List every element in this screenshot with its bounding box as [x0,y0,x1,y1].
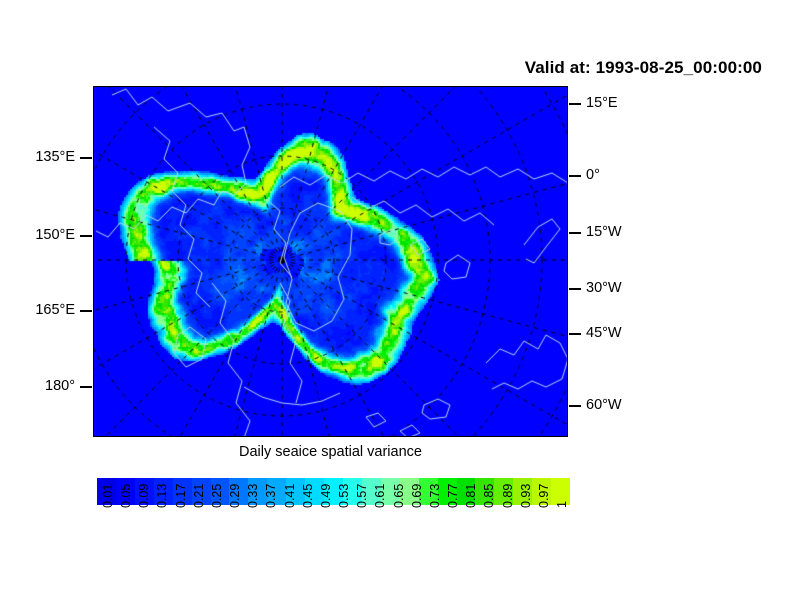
left-axis-label: 165°E [0,302,75,318]
left-axis-label: 180° [0,378,75,394]
left-axis-tick [80,386,92,388]
colorbar-tick-label: 0.25 [210,484,224,508]
colorbar-tick-label: 0.05 [119,484,133,508]
right-axis-tick [569,232,581,234]
colorbar-tick-label: 0.21 [192,484,206,508]
right-axis-tick [569,175,581,177]
colorbar-tick-label: 0.65 [392,484,406,508]
colorbar-tick-label: 0.01 [101,484,115,508]
colorbar-tick-label: 0.89 [501,484,515,508]
right-axis-label: 30°W [586,280,622,296]
colorbar-tick-label: 0.33 [246,484,260,508]
colorbar-tick-label: 0.49 [319,484,333,508]
colorbar-tick-label: 0.29 [228,484,242,508]
left-axis-tick [80,235,92,237]
left-axis-label: 135°E [0,149,75,165]
colorbar-tick-label: 0.93 [519,484,533,508]
colorbar-tick-label: 0.41 [283,484,297,508]
colorbar-tick-label: 0.53 [337,484,351,508]
colorbar-tick-label: 0.85 [482,484,496,508]
right-axis-label: 45°W [586,325,622,341]
colorbar-tick-label: 0.73 [428,484,442,508]
left-axis-tick [80,157,92,159]
right-axis-tick [569,333,581,335]
right-axis-tick [569,288,581,290]
map-plot-area [93,86,568,437]
right-axis-label: 15°W [586,224,622,240]
colorbar-tick-label: 0.45 [301,484,315,508]
right-axis-label: 15°E [586,95,618,111]
colorbar-tick-label: 0.13 [155,484,169,508]
colorbar-tick-label: 0.57 [355,484,369,508]
colorbar-caption: Daily seaice spatial variance [93,444,568,460]
page-title: Valid at: 1993-08-25_00:00:00 [0,58,762,78]
colorbar-tick-label: 0.09 [137,484,151,508]
right-axis-label: 0° [586,167,600,183]
left-axis-tick [80,310,92,312]
colorbar-tick-label: 0.69 [410,484,424,508]
colorbar-tick-label: 0.81 [464,484,478,508]
right-axis-tick [569,405,581,407]
colorbar-tick-label: 0.77 [446,484,460,508]
colorbar-tick-label: 0.97 [537,484,551,508]
colorbar-tick-label: 1 [555,501,569,508]
right-axis-label: 60°W [586,397,622,413]
colorbar: 0.010.050.090.130.170.210.250.290.330.37… [97,478,570,505]
colorbar-tick-label: 0.17 [174,484,188,508]
right-axis-tick [569,103,581,105]
colorbar-tick-label: 0.37 [264,484,278,508]
left-axis-label: 150°E [0,227,75,243]
colorbar-tick-label: 0.61 [373,484,387,508]
arctic-seaice-variance-map [94,87,568,437]
